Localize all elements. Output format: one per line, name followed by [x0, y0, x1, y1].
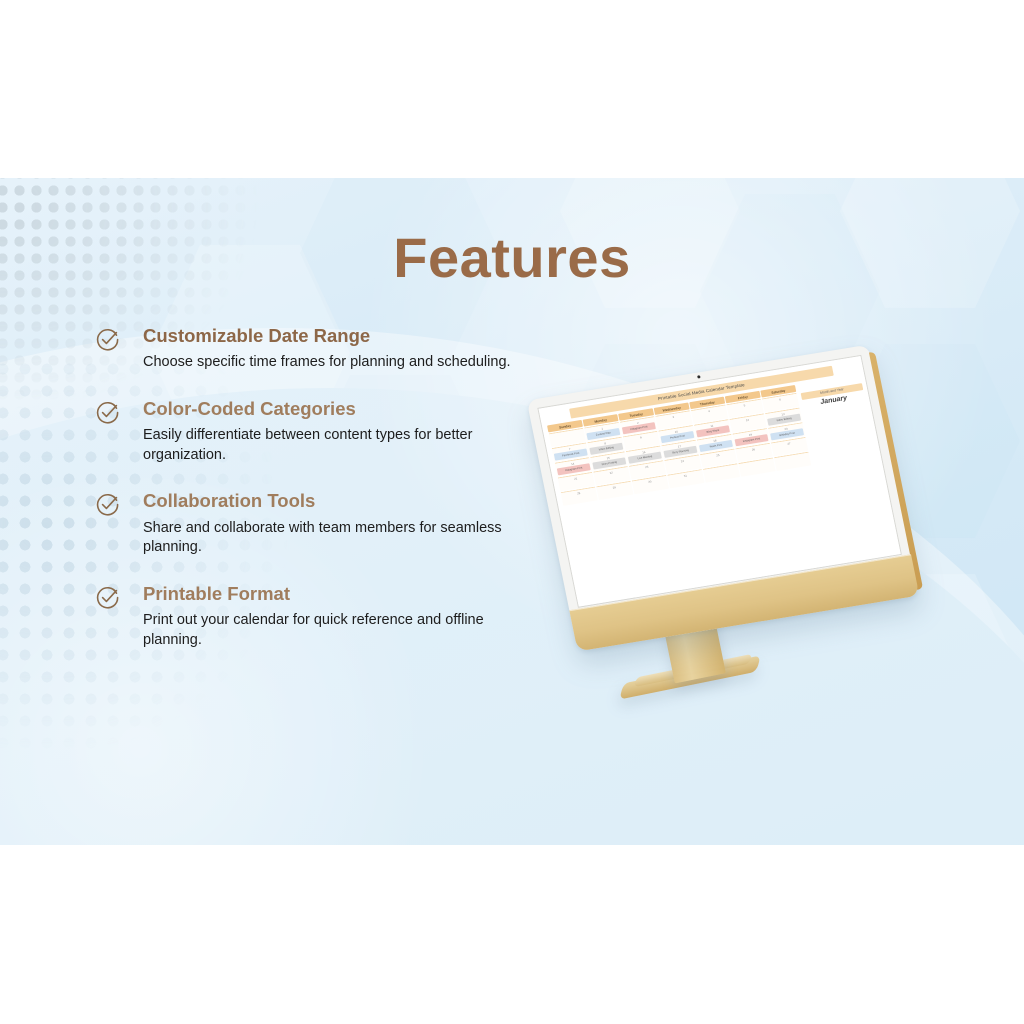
day-number: 30	[632, 477, 667, 487]
day-number: 24	[665, 457, 700, 467]
day-number: 23	[629, 463, 664, 473]
day-number: 29	[597, 483, 632, 493]
webcam-icon	[697, 375, 701, 378]
day-number: 21	[558, 474, 593, 484]
page-title: Features	[0, 225, 1024, 290]
monitor-body: Printable Social Media Calendar Template…	[527, 345, 920, 652]
day-number: 26	[736, 445, 771, 455]
feature-list: Customizable Date Range Choose specific …	[95, 326, 515, 676]
day-number: 9	[623, 433, 658, 443]
day-number: 31	[668, 471, 703, 481]
day-number: 27	[771, 439, 806, 449]
feature-description: Choose specific time frames for planning…	[143, 353, 515, 373]
day-number: 4	[691, 407, 726, 417]
calendar-table: Sunday Monday Tuesday Wednesday Thursday…	[546, 384, 813, 508]
monitor-mockup: Printable Social Media Calendar Template…	[520, 370, 940, 790]
feature-description: Share and collaborate with team members …	[143, 519, 515, 558]
day-number: 6	[762, 395, 797, 405]
calendar-side-panel: Month and Year January	[799, 373, 877, 466]
feature-item-collaboration-tools: Collaboration Tools Share and collaborat…	[95, 491, 515, 557]
feature-item-printable-format: Printable Format Print out your calendar…	[95, 584, 515, 650]
feature-heading: Customizable Date Range	[143, 326, 515, 346]
calendar-grid-container: Sunday Monday Tuesday Wednesday Thursday…	[546, 384, 813, 508]
feature-item-color-coded-categories: Color-Coded Categories Easily differenti…	[95, 399, 515, 465]
check-circle-icon	[95, 492, 121, 518]
day-number: 5	[727, 401, 762, 411]
features-slide: Features Customizable Date Range Choose …	[0, 178, 1024, 845]
feature-heading: Printable Format	[143, 584, 515, 604]
check-circle-icon	[95, 400, 121, 426]
day-number: 12	[730, 416, 765, 426]
day-number: 3	[656, 413, 691, 423]
feature-description: Print out your calendar for quick refere…	[143, 611, 515, 650]
feature-heading: Collaboration Tools	[143, 491, 515, 511]
feature-heading: Color-Coded Categories	[143, 399, 515, 419]
day-number: 22	[594, 468, 629, 478]
day-number: 28	[561, 489, 596, 499]
check-circle-icon	[95, 585, 121, 611]
feature-item-customizable-date-range: Customizable Date Range Choose specific …	[95, 326, 515, 373]
day-number: 25	[700, 451, 735, 461]
feature-description: Easily differentiate between content typ…	[143, 426, 515, 465]
slide-page: Features Customizable Date Range Choose …	[0, 0, 1024, 1024]
check-circle-icon	[95, 327, 121, 353]
